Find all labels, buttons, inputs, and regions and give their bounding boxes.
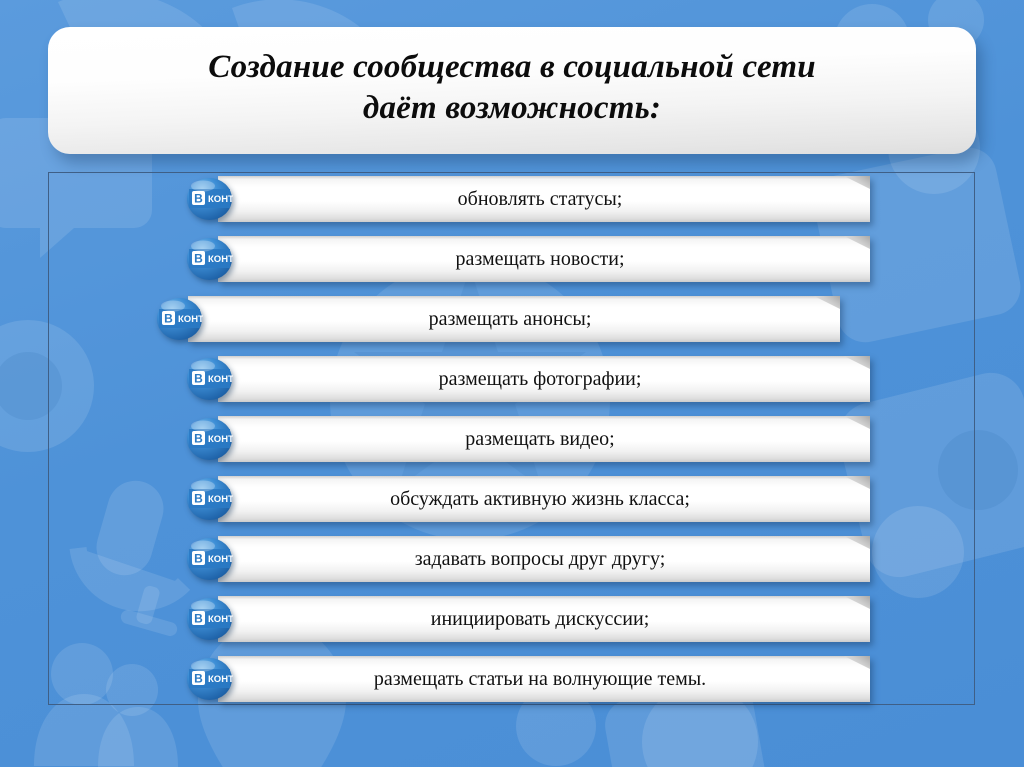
list-item-plate: размещать анонсы; <box>188 296 840 342</box>
svg-text:В: В <box>194 192 203 206</box>
list-item-label: размещать анонсы; <box>429 308 592 331</box>
list-item-label: задавать вопросы друг другу; <box>415 548 666 571</box>
vkontakte-logo-icon: В КОНТ <box>186 657 233 701</box>
vkontakte-logo-icon: В КОНТ <box>186 537 233 581</box>
list-item-plate: обсуждать активную жизнь класса; <box>218 476 870 522</box>
slide-root: Создание сообщества в социальной сети да… <box>0 0 1024 767</box>
vkontakte-logo-icon: В КОНТ <box>186 417 233 461</box>
list-item-plate: размещать новости; <box>218 236 870 282</box>
svg-text:КОНТ: КОНТ <box>208 614 233 625</box>
vkontakte-logo-icon: В КОНТ <box>186 237 233 281</box>
svg-text:В: В <box>194 552 203 566</box>
list-item-label: размещать фотографии; <box>439 368 642 391</box>
title-line-2: даёт возможность: <box>363 90 661 126</box>
bullet-list: В КОНТ обновлять статусы; В КОНТ <box>0 176 1024 716</box>
svg-text:В: В <box>164 312 173 326</box>
list-item-plate: размещать статьи на волнующие темы. <box>218 656 870 702</box>
page-title: Создание сообщества в социальной сети да… <box>208 47 816 128</box>
list-item-plate: размещать фотографии; <box>218 356 870 402</box>
vkontakte-logo-icon: В КОНТ <box>186 177 233 221</box>
svg-text:КОНТ: КОНТ <box>208 554 233 565</box>
svg-text:В: В <box>194 432 203 446</box>
svg-text:КОНТ: КОНТ <box>208 254 233 265</box>
svg-text:В: В <box>194 252 203 266</box>
svg-text:В: В <box>194 672 203 686</box>
list-item-label: инициировать дискуссии; <box>431 608 650 631</box>
vkontakte-logo-icon: В КОНТ <box>186 357 233 401</box>
svg-text:КОНТ: КОНТ <box>208 494 233 505</box>
svg-text:КОНТ: КОНТ <box>178 314 203 325</box>
svg-text:КОНТ: КОНТ <box>208 674 233 685</box>
svg-text:В: В <box>194 372 203 386</box>
list-item-plate: инициировать дискуссии; <box>218 596 870 642</box>
svg-text:В: В <box>194 492 203 506</box>
title-line-1: Создание сообщества в социальной сети <box>208 49 816 85</box>
vkontakte-logo-icon: В КОНТ <box>156 297 203 341</box>
list-item-label: размещать статьи на волнующие темы. <box>374 668 706 691</box>
list-item-plate: размещать видео; <box>218 416 870 462</box>
list-item-plate: обновлять статусы; <box>218 176 870 222</box>
list-item-plate: задавать вопросы друг другу; <box>218 536 870 582</box>
list-item-label: обсуждать активную жизнь класса; <box>390 488 690 511</box>
vkontakte-logo-icon: В КОНТ <box>186 477 233 521</box>
title-panel: Создание сообщества в социальной сети да… <box>48 27 976 154</box>
list-item-label: размещать новости; <box>455 248 624 271</box>
vkontakte-logo-icon: В КОНТ <box>186 597 233 641</box>
svg-text:В: В <box>194 612 203 626</box>
svg-text:КОНТ: КОНТ <box>208 194 233 205</box>
svg-text:КОНТ: КОНТ <box>208 434 233 445</box>
list-item-label: размещать видео; <box>465 428 614 451</box>
list-item-label: обновлять статусы; <box>458 188 623 211</box>
svg-text:КОНТ: КОНТ <box>208 374 233 385</box>
